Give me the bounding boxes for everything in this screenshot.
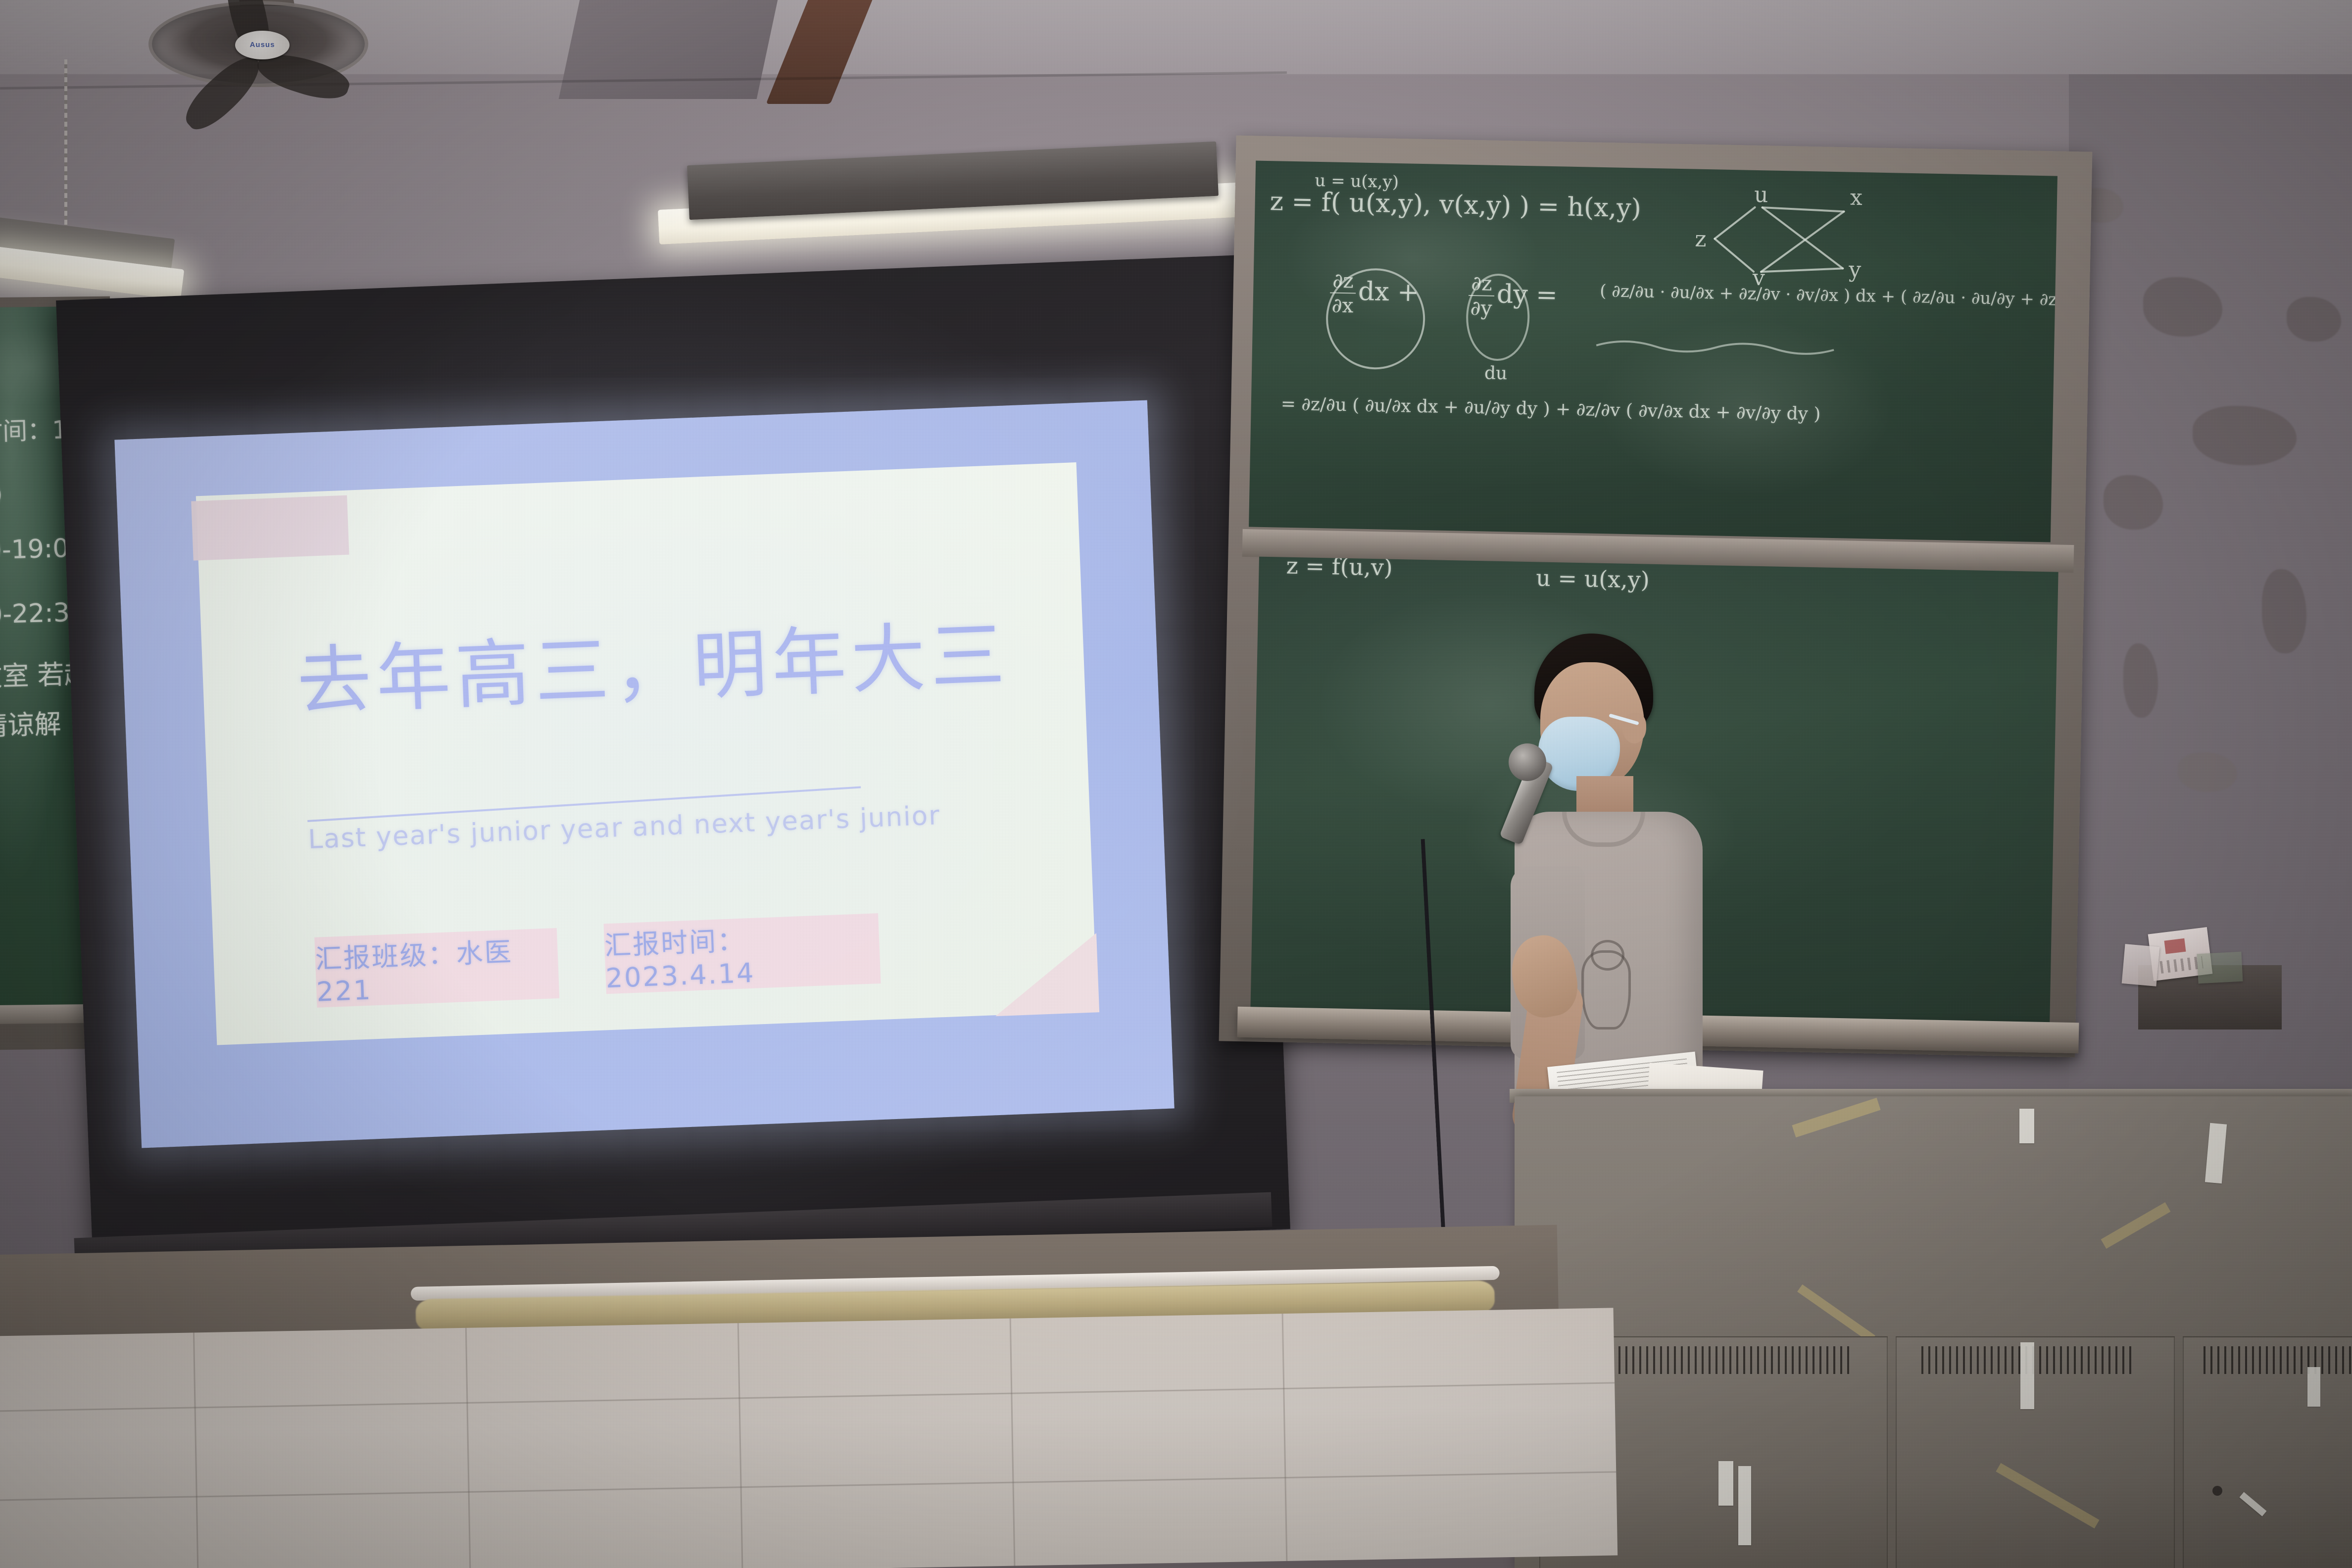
projected-image: 去年高三，明年大三 Last year's junior year and ne…: [114, 400, 1174, 1148]
chalk-tree-diagram: z u v x y: [1694, 179, 1909, 307]
floor-tile-seam: [0, 1382, 1615, 1412]
chalk-annotation: du: [1484, 363, 1508, 384]
tape-strip: [2020, 1342, 2034, 1409]
chalk-equation: = ∂z/∂u ( ∂u/∂x dx + ∂u/∂y dy ) + ∂z/∂v …: [1280, 394, 1820, 425]
chalk-equation: z = f( u(x,y), v(x,y) ) = h(x,y): [1270, 187, 1641, 223]
podium-door[interactable]: [2183, 1336, 2352, 1568]
podium-door[interactable]: [1896, 1336, 2175, 1568]
classroom-scene: Ausus 时间：16: =) 30-19:00 30-22:30 教室 若越 …: [0, 0, 2352, 1568]
slide-tag-class: 汇报班级：水医221: [314, 928, 559, 1008]
chalk-underline: [1594, 331, 1852, 365]
slide-decoration-rectangle: [191, 495, 349, 561]
blackboard-right-upper: u = u(x,y) z = f( u(x,y), v(x,y) ) = h(x…: [1249, 161, 2058, 542]
presenter-ear: [1622, 713, 1646, 743]
floor-tile-seam: [737, 1323, 743, 1568]
tape-residue: [1792, 1098, 1880, 1137]
floor-tile-seam: [465, 1328, 471, 1568]
tape-residue: [1797, 1284, 1875, 1343]
microphone-head-icon[interactable]: [1509, 743, 1546, 781]
lock-icon[interactable]: [2212, 1486, 2222, 1496]
tape-strip: [2205, 1123, 2227, 1184]
chalk-line: =): [0, 480, 3, 509]
eraser[interactable]: [2197, 952, 2243, 984]
ceiling-beam: [559, 0, 778, 99]
tape-strip: [2240, 1492, 2267, 1516]
tape-residue: [2101, 1202, 2171, 1249]
floor: [0, 1308, 1617, 1568]
chalk-equation: u = u(x,y): [1536, 564, 1650, 593]
tape-residue: [1996, 1463, 2099, 1528]
chalk-circle-annotation: [1462, 271, 1538, 367]
chalk-circle-annotation: [1321, 263, 1432, 374]
floor-tile-seam: [0, 1471, 1616, 1501]
fan-hub: Ausus: [235, 31, 290, 59]
fan-brand-label: Ausus: [235, 31, 290, 59]
chalk-line: 请谅解: [0, 702, 61, 743]
svg-text:v: v: [1752, 265, 1765, 291]
chalk-box-mark: [2164, 938, 2186, 954]
chalk-box[interactable]: [2122, 944, 2160, 986]
slide-title: 去年高三，明年大三: [295, 613, 1016, 724]
slide-decoration-triangle: [992, 933, 1099, 1016]
slide-tag-date: 汇报时间：2023.4.14: [604, 913, 881, 994]
svg-text:x: x: [1850, 185, 1863, 210]
tape-strip: [2307, 1367, 2320, 1407]
svg-text:u: u: [1754, 182, 1768, 208]
ceiling-fan[interactable]: Ausus: [148, 0, 361, 85]
chalk-equation: z = f(u,v): [1286, 557, 1393, 581]
ventilation-grille: [2204, 1346, 2352, 1374]
tape-strip: [2019, 1109, 2034, 1143]
floor-tile-seam: [193, 1332, 199, 1568]
svg-text:z: z: [1695, 227, 1707, 252]
slide-subtitle: Last year's junior year and next year's …: [307, 800, 951, 855]
shirt-graphic-icon: [1581, 950, 1631, 1029]
floor-tile-seam: [1010, 1319, 1016, 1566]
tape-strip: [1718, 1461, 1733, 1506]
presentation-slide: 去年高三，明年大三 Last year's junior year and ne…: [196, 462, 1097, 1045]
tape-strip: [1738, 1466, 1751, 1545]
svg-text:y: y: [1848, 257, 1862, 283]
floor-tile-seam: [1282, 1314, 1288, 1561]
chalk-equation: ( ∂z/∂u · ∂u/∂x + ∂z/∂v · ∂v/∂x ) dx + (…: [1600, 281, 2058, 312]
chalk-equation: u = u(x,y): [1315, 171, 1399, 192]
